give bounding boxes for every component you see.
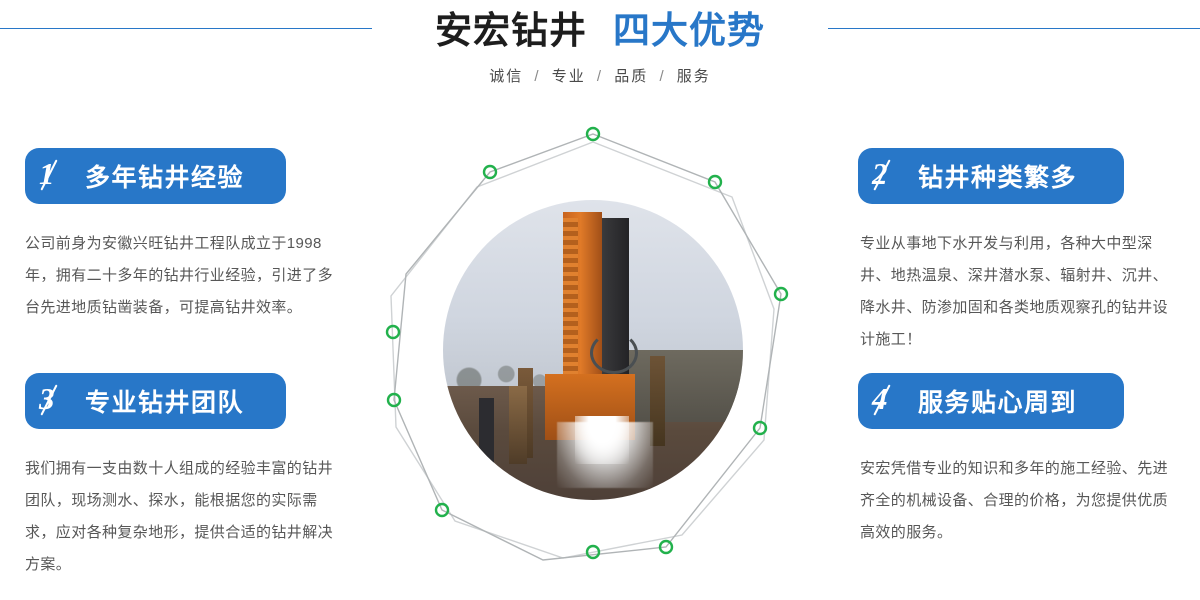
polygon-outline-back xyxy=(391,142,774,558)
feature-card-3-header[interactable]: 3 专业钻井团队 xyxy=(25,373,286,429)
feature-card-2-title: 钻井种类繁多 xyxy=(918,158,1095,194)
number-badge-1-icon: 1 xyxy=(39,156,81,196)
subtitle-separator-1: / xyxy=(529,68,545,85)
page-title-brand: 安宏钻井 xyxy=(435,10,587,51)
number-badge-2-icon: 2 xyxy=(872,156,914,196)
feature-card-3: 3 专业钻井团队 我们拥有一支由数十人组成的经验丰富的钻井团队，现场测水、探水，… xyxy=(25,373,286,429)
feature-card-3-body: 我们拥有一支由数十人组成的经验丰富的钻井团队，现场测水、探水，能根据您的实际需求… xyxy=(25,453,343,581)
center-graphic xyxy=(370,110,820,590)
subtitle-item-1: 诚信 xyxy=(489,68,523,85)
page-root: 安宏钻井四大优势 诚信 / 专业 / 品质 / 服务 1 多年钻井经验 公司前身… xyxy=(0,0,1200,600)
feature-card-2-header[interactable]: 2 钻井种类繁多 xyxy=(858,148,1124,204)
page-header: 安宏钻井四大优势 诚信 / 专业 / 品质 / 服务 xyxy=(0,0,1200,110)
feature-card-1: 1 多年钻井经验 公司前身为安徽兴旺钻井工程队成立于1998年，拥有二十多年的钻… xyxy=(25,148,286,204)
number-badge-4-icon: 4 xyxy=(872,381,914,421)
feature-card-4-title: 服务贴心周到 xyxy=(918,383,1095,419)
feature-card-4: 4 服务贴心周到 安宏凭借专业的知识和多年的施工经验、先进齐全的机械设备、合理的… xyxy=(858,373,1124,429)
feature-card-3-title: 专业钻井团队 xyxy=(85,383,262,419)
feature-card-2-body: 专业从事地下水开发与利用，各种大中型深井、地热温泉、深井潜水泵、辐射井、沉井、降… xyxy=(860,228,1182,356)
feature-card-1-body: 公司前身为安徽兴旺钻井工程队成立于1998年，拥有二十多年的钻井行业经验，引进了… xyxy=(25,228,343,324)
number-badge-3-icon: 3 xyxy=(39,381,81,421)
page-subtitle: 诚信 / 专业 / 品质 / 服务 xyxy=(0,65,1200,86)
feature-card-1-title: 多年钻井经验 xyxy=(85,158,262,194)
decorative-polygons xyxy=(370,110,820,590)
subtitle-item-2: 专业 xyxy=(552,68,586,85)
subtitle-item-4: 服务 xyxy=(677,68,711,85)
subtitle-separator-3: / xyxy=(654,68,670,85)
page-title: 安宏钻井四大优势 xyxy=(0,10,1200,52)
feature-card-2: 2 钻井种类繁多 专业从事地下水开发与利用，各种大中型深井、地热温泉、深井潜水泵… xyxy=(858,148,1124,204)
feature-card-4-body: 安宏凭借专业的知识和多年的施工经验、先进齐全的机械设备、合理的价格，为您提供优质… xyxy=(860,453,1182,549)
page-title-highlight: 四大优势 xyxy=(613,10,765,51)
subtitle-separator-2: / xyxy=(592,68,608,85)
polygon-vertex-markers xyxy=(387,128,787,558)
polygon-outline-front xyxy=(394,134,781,560)
feature-card-1-header[interactable]: 1 多年钻井经验 xyxy=(25,148,286,204)
subtitle-item-3: 品质 xyxy=(614,68,648,85)
feature-card-4-header[interactable]: 4 服务贴心周到 xyxy=(858,373,1124,429)
